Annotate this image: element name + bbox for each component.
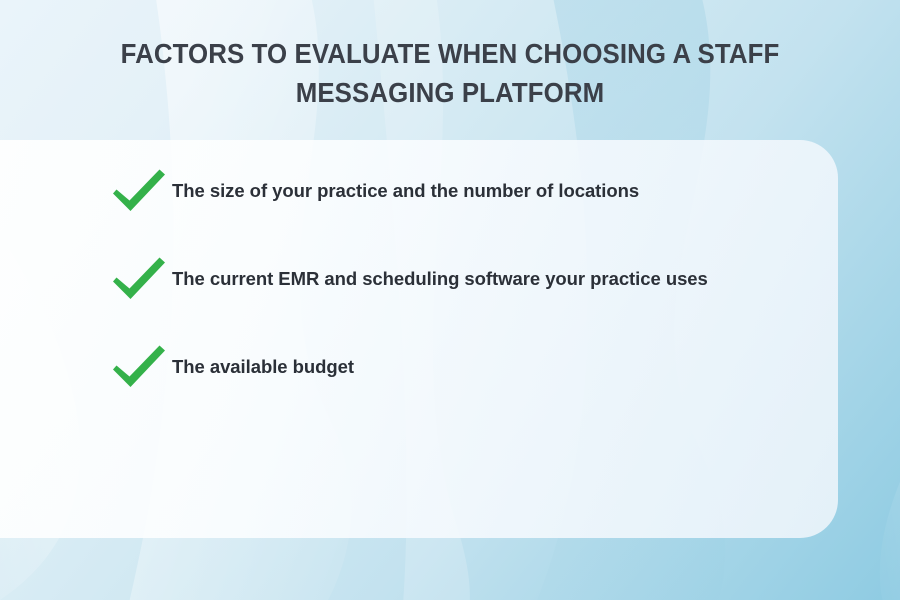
list-item-label: The size of your practice and the number… (172, 172, 639, 203)
list-item: The current EMR and scheduling software … (110, 260, 810, 300)
green-check-icon (110, 256, 172, 300)
list-item-label: The current EMR and scheduling software … (172, 260, 708, 291)
green-check-icon (110, 168, 172, 212)
page-title-line-1: FACTORS TO EVALUATE WHEN CHOOSING A STAF… (27, 34, 873, 73)
page-title: FACTORS TO EVALUATE WHEN CHOOSING A STAF… (27, 34, 873, 112)
factors-checklist: The size of your practice and the number… (110, 172, 810, 388)
list-item: The available budget (110, 348, 810, 388)
list-item: The size of your practice and the number… (110, 172, 810, 212)
page-title-line-2: MESSAGING PLATFORM (27, 73, 873, 112)
green-check-icon (110, 344, 172, 388)
list-item-label: The available budget (172, 348, 354, 379)
